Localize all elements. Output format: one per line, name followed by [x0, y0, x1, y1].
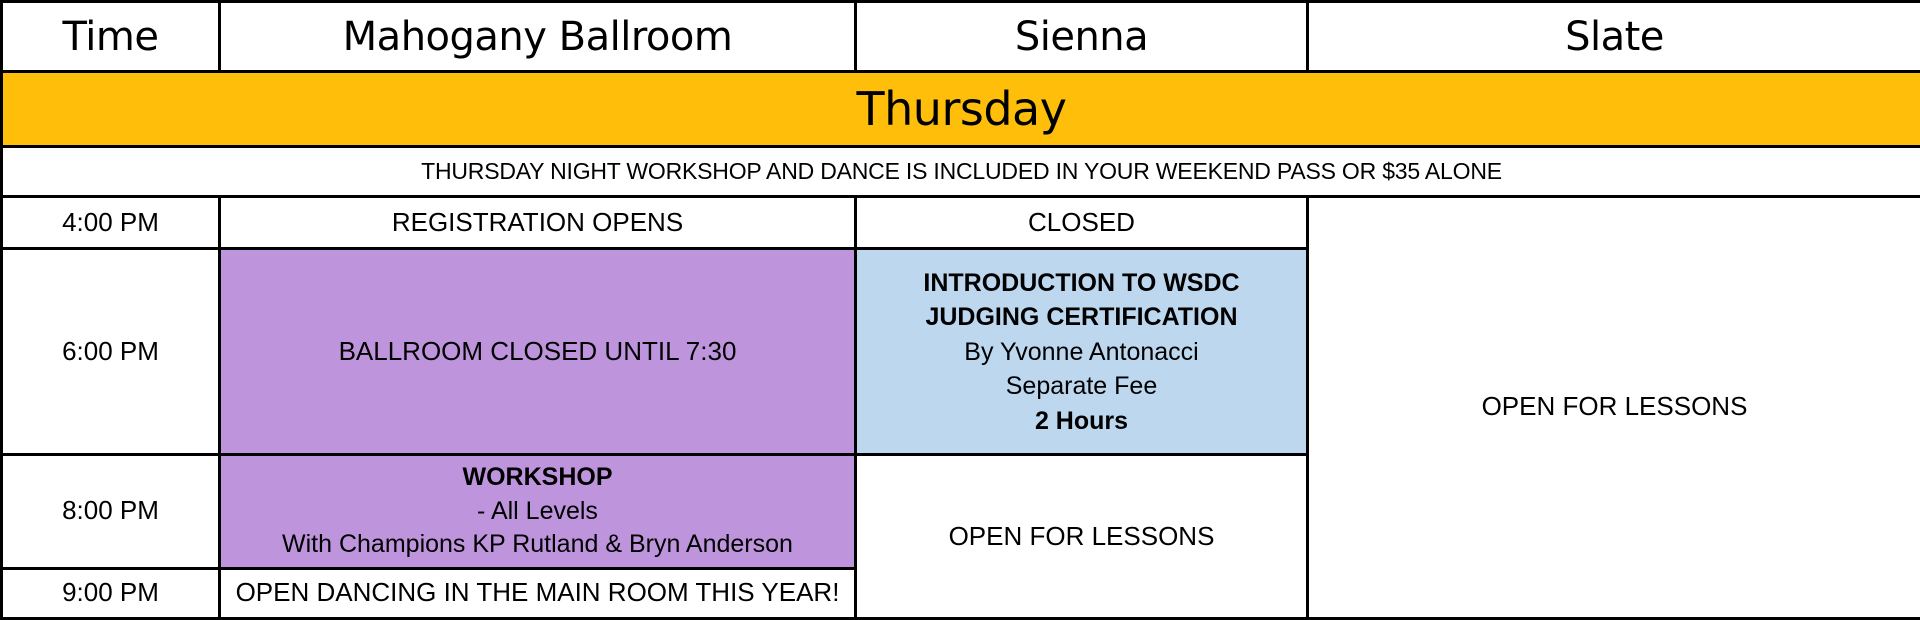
- cell-mahogany-8pm: WORKSHOP - All Levels With Champions KP …: [220, 455, 856, 568]
- workshop-label: WORKSHOP: [225, 461, 850, 495]
- sienna-line-3: By Yvonne Antonacci: [861, 335, 1302, 370]
- day-banner-row: Thursday: [2, 72, 1920, 146]
- sienna-line-1: INTRODUCTION TO WSDC: [861, 266, 1302, 301]
- header-mahogany-ballroom: Mahogany Ballroom: [220, 2, 856, 72]
- sienna-line-5: 2 Hours: [861, 404, 1302, 439]
- sienna-line-2: JUDGING CERTIFICATION: [861, 300, 1302, 335]
- cell-mahogany-6pm: BALLROOM CLOSED UNTIL 7:30: [220, 249, 856, 455]
- workshop-levels: - All Levels: [225, 495, 850, 529]
- header-time: Time: [2, 2, 220, 72]
- workshop-line-1: WORKSHOP - All Levels: [225, 461, 850, 528]
- cell-slate-open-for-lessons: OPEN FOR LESSONS: [1308, 196, 1920, 618]
- table-row: 4:00 PM REGISTRATION OPENS CLOSED OPEN F…: [2, 196, 1920, 249]
- row-time-8pm: 8:00 PM: [2, 455, 220, 568]
- header-sienna: Sienna: [856, 2, 1308, 72]
- row-time-9pm: 9:00 PM: [2, 568, 220, 618]
- row-time-4pm: 4:00 PM: [2, 196, 220, 249]
- notice-text: THURSDAY NIGHT WORKSHOP AND DANCE IS INC…: [2, 146, 1920, 196]
- header-slate: Slate: [1308, 2, 1920, 72]
- cell-mahogany-4pm: REGISTRATION OPENS: [220, 196, 856, 249]
- table-header-row: Time Mahogany Ballroom Sienna Slate: [2, 2, 1920, 72]
- sienna-line-4: Separate Fee: [861, 369, 1302, 404]
- day-banner-thursday: Thursday: [2, 72, 1920, 146]
- schedule-table: Time Mahogany Ballroom Sienna Slate Thur…: [0, 0, 1920, 620]
- cell-sienna-6pm: INTRODUCTION TO WSDC JUDGING CERTIFICATI…: [856, 249, 1308, 455]
- cell-sienna-8pm: OPEN FOR LESSONS: [856, 455, 1308, 619]
- cell-sienna-4pm: CLOSED: [856, 196, 1308, 249]
- row-time-6pm: 6:00 PM: [2, 249, 220, 455]
- notice-row: THURSDAY NIGHT WORKSHOP AND DANCE IS INC…: [2, 146, 1920, 196]
- cell-mahogany-9pm: OPEN DANCING IN THE MAIN ROOM THIS YEAR!: [220, 568, 856, 618]
- workshop-line-2: With Champions KP Rutland & Bryn Anderso…: [225, 528, 850, 562]
